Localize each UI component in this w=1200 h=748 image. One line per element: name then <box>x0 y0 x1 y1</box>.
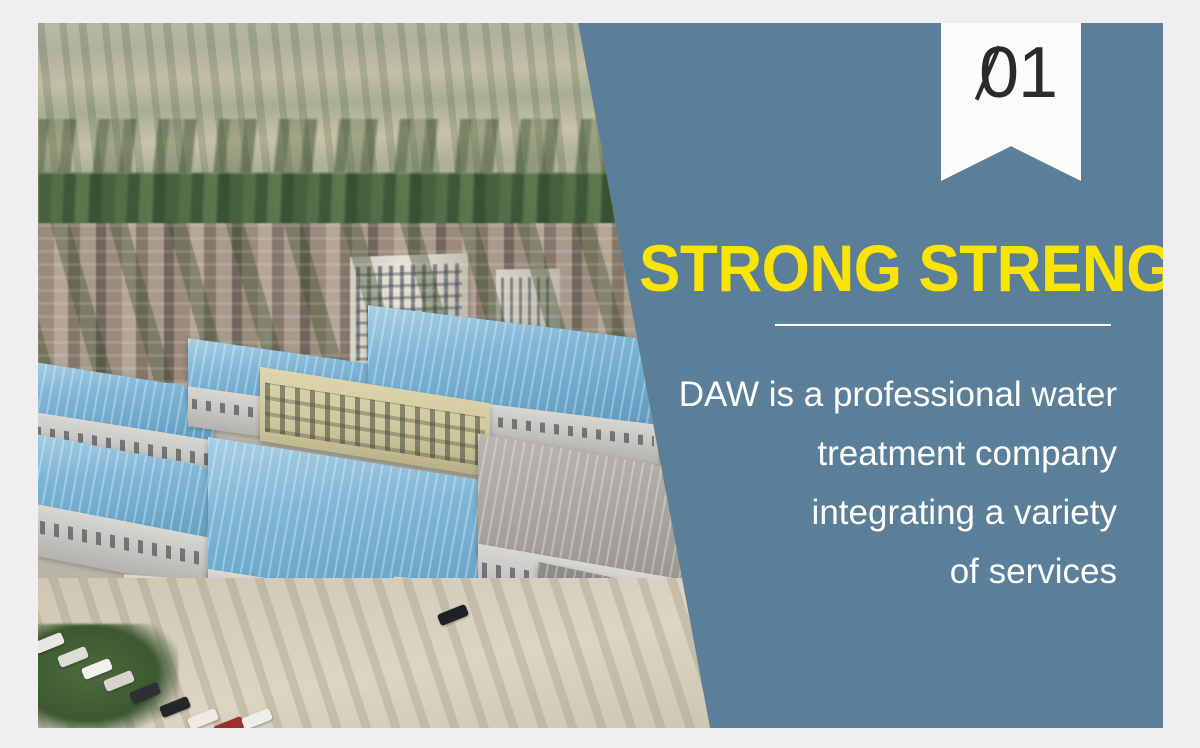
title-divider <box>775 324 1111 326</box>
content-card: 01 STRONG STRENGTH DAW is a professional… <box>38 23 1163 728</box>
badge-number: 01 <box>965 37 1057 109</box>
body-line: integrating a variety <box>639 484 1117 543</box>
body-line: of services <box>639 543 1117 602</box>
slide-root: 01 STRONG STRENGTH DAW is a professional… <box>0 0 1200 748</box>
page-title: STRONG STRENGTH <box>639 235 1088 302</box>
body-line: treatment company <box>639 425 1117 484</box>
body-paragraph: DAW is a professional water treatment co… <box>639 366 1117 601</box>
text-column: STRONG STRENGTH DAW is a professional wa… <box>639 235 1117 602</box>
badge-number-value: 01 <box>979 33 1057 113</box>
body-line: DAW is a professional water <box>639 366 1117 425</box>
